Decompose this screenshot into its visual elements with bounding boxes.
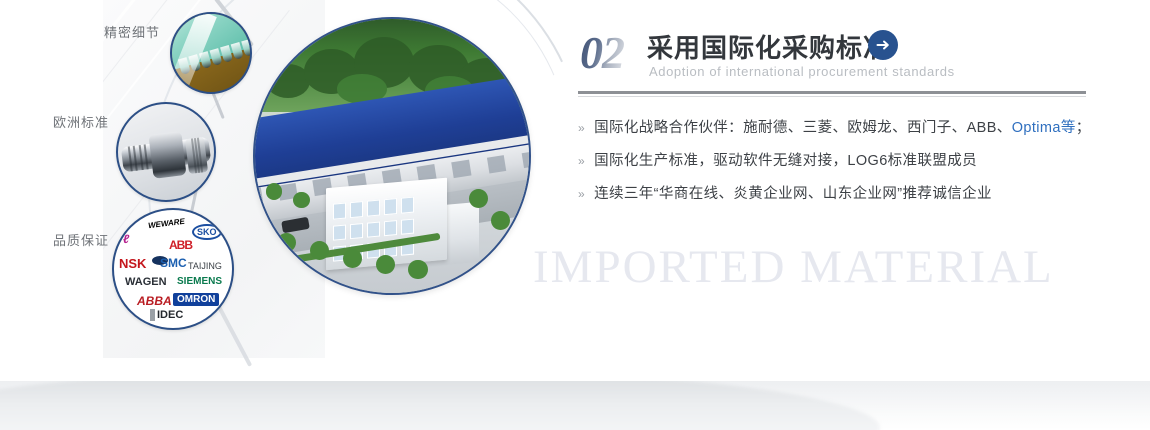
page-title: 采用国际化采购标准 (647, 28, 890, 65)
list-item: » 连续三年“华商在线、炎黄企业网、山东企业网”推荐诚信企业 (578, 184, 1108, 204)
office-window (401, 197, 414, 213)
list-item-highlight: Optima等 (1012, 120, 1076, 136)
list-item-text-main: 国际化战略合作伙伴：施耐德、三菱、欧姆龙、西门子、ABB、 (594, 120, 1012, 136)
chevron-right-icon: » (578, 184, 585, 204)
logo-script: ℓ (123, 232, 129, 246)
arrow-right-button[interactable] (868, 30, 898, 60)
screw-thread (128, 147, 133, 172)
logo-nsk: NSK (119, 256, 146, 271)
logo-siemens: SIEMENS (177, 276, 222, 287)
list-item-text-tail: ； (1076, 120, 1091, 136)
logo-sko: SKO (192, 224, 222, 240)
shrub (293, 192, 309, 208)
logo-idec: IDEC (150, 309, 183, 321)
warehouse-window (253, 187, 263, 205)
logo-taijing: TAIJING (188, 261, 222, 271)
section-number: 02 (580, 26, 624, 79)
ball-screw-photo (116, 102, 216, 202)
promo-banner: 精密细节 欧洲标准 品质保证 WEWARE (0, 0, 1150, 430)
divider-thick (578, 91, 1086, 94)
shrub (491, 211, 510, 230)
shrub (469, 189, 488, 208)
shrub (310, 241, 329, 260)
office-window (367, 200, 380, 216)
warehouse-window (487, 155, 507, 173)
arrow-right-icon (874, 36, 892, 54)
logo-smc: SMC (160, 256, 187, 270)
shrub (376, 255, 395, 274)
logo-wagen: WAGEN (125, 276, 167, 288)
office-window (384, 199, 397, 215)
screw-nut (148, 131, 186, 179)
shrub (277, 233, 296, 252)
office-window (401, 219, 414, 235)
floor-mask (0, 355, 1150, 381)
shrub (408, 260, 427, 279)
brand-logos-collage: WEWARE SKO ℓ ABB NSK SMC TAIJING WAGEN S… (112, 208, 234, 330)
office-window (333, 225, 346, 241)
precision-detail-photo (170, 12, 252, 94)
warehouse-window (452, 159, 472, 177)
screw-thread (138, 145, 143, 170)
office-window (350, 202, 363, 218)
office-window (350, 223, 363, 239)
office-window (367, 222, 380, 238)
watermark-text: IMPORTED MATERIAL (533, 240, 1054, 294)
tree (266, 64, 310, 98)
list-item-text: 国际化生产标准，驱动软件无缝对接，LOG6标准联盟成员 (594, 151, 977, 171)
chevron-right-icon: » (578, 118, 585, 138)
logo-weware: WEWARE (148, 217, 186, 230)
logo-abba: ABBA (137, 294, 172, 308)
divider-thin (578, 96, 1086, 97)
feature-list: » 国际化战略合作伙伴：施耐德、三菱、欧姆龙、西门子、ABB、Optima等； … (578, 118, 1108, 217)
list-item: » 国际化生产标准，驱动软件无缝对接，LOG6标准联盟成员 (578, 151, 1108, 171)
list-item-text: 国际化战略合作伙伴：施耐德、三菱、欧姆龙、西门子、ABB、Optima等； (594, 118, 1091, 138)
office-window (384, 220, 397, 236)
page-subtitle: Adoption of international procurement st… (649, 64, 955, 79)
logo-abb: ABB (169, 238, 192, 252)
list-item-text: 连续三年“华商在线、炎黄企业网、山东企业网”推荐诚信企业 (594, 184, 992, 204)
chevron-right-icon: » (578, 151, 585, 171)
label-european-standard: 欧洲标准 (53, 112, 109, 131)
shrub (343, 249, 362, 268)
screw-thread (133, 146, 138, 171)
shrub (266, 183, 282, 199)
list-item: » 国际化战略合作伙伴：施耐德、三菱、欧姆龙、西门子、ABB、Optima等； (578, 118, 1108, 138)
label-precision-detail: 精密细节 (104, 22, 160, 41)
factory-aerial-photo (253, 17, 531, 295)
office-window (333, 203, 346, 219)
logo-omron: OMRON (173, 293, 219, 306)
screw-thread (143, 145, 148, 170)
warehouse-window (521, 150, 531, 168)
label-quality-assurance: 品质保证 (53, 230, 109, 249)
